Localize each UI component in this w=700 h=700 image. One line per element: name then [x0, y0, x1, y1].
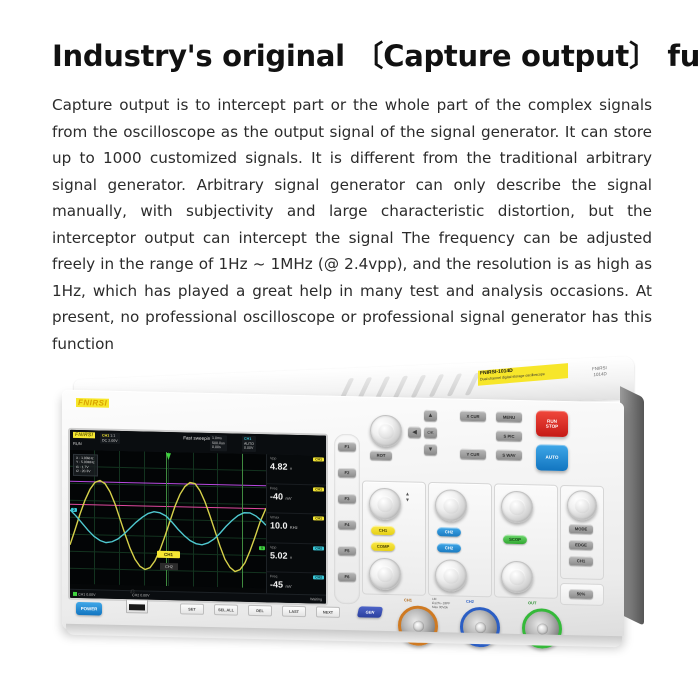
ch1-chip-l3: 2.00V	[108, 438, 117, 442]
delete-button[interactable]: DEL	[248, 605, 272, 617]
waveform-plot-area[interactable]: X : 1.00kHz Y : 5.00MHz t1 : 1.7V t2 : 2…	[70, 450, 266, 588]
scope-control-group: SCOP	[494, 483, 558, 598]
model-label: FNIRSI-1014D Dual channel digital storag…	[478, 363, 568, 386]
percent-button-group: 50%	[560, 583, 604, 606]
y-cursor-button[interactable]: Y CUR	[460, 449, 486, 460]
oscilloscope-display[interactable]: FNIRSI RUN CH1 1:1 DC 2.00V Fast sweepin…	[70, 430, 326, 604]
meas-unit: v	[290, 555, 292, 560]
meas-unit: mV	[286, 495, 292, 500]
run-stop-line2: STOP	[546, 424, 558, 430]
next-button[interactable]: NEXT	[316, 606, 340, 618]
last-button[interactable]: LAST	[282, 606, 306, 618]
brand-logo: FNIRSI	[76, 398, 109, 408]
measurement-row[interactable]: Vmax CH1 10.0 KHz	[267, 513, 327, 544]
device-front-panel: FNIRSI FNIRSI RUN CH1 1:1 DC 2.00V Fast …	[62, 390, 624, 643]
vent-slot	[375, 376, 391, 399]
ch1-position-knob[interactable]	[369, 488, 401, 521]
generator-button[interactable]: GEN	[357, 606, 383, 617]
scope-button[interactable]: SCOP	[503, 535, 527, 545]
trigger-chip[interactable]: CH1 AUTO 0.00V	[242, 436, 256, 452]
time-base-chip[interactable]: 1.0ms 500.0us 0.00s	[210, 435, 227, 451]
meas-channel-tag: CH2	[313, 546, 324, 550]
function-button-column: F1 F2 F3 F4 F5 F6	[334, 434, 360, 605]
meas-channel-tag: CH2	[313, 576, 324, 580]
trig-chip-l3: 0.00V	[244, 446, 253, 450]
bnc-ch2-label: CH2	[466, 599, 474, 604]
ch1-volts-knob[interactable]	[369, 558, 401, 591]
auto-button[interactable]: AUTO	[536, 444, 568, 471]
vent-slot	[411, 375, 427, 398]
function-button-f6[interactable]: F6	[338, 572, 356, 581]
page-body-text: Capture output is to intercept part or t…	[52, 92, 652, 357]
trig-chip-l2: AUTO	[244, 441, 254, 445]
x-cursor-button[interactable]: X CUR	[460, 411, 486, 422]
horizontal-position-knob[interactable]	[501, 561, 533, 594]
select-all-button[interactable]: SEL.ALL	[214, 604, 238, 616]
function-button-f4[interactable]: F4	[338, 520, 356, 529]
ch1-chip-l1: 1:1	[110, 434, 115, 438]
meas-value: 45	[273, 580, 283, 590]
usb-icon: ⎌	[130, 589, 135, 596]
vent-slot	[447, 373, 463, 396]
function-button-f2[interactable]: F2	[338, 468, 356, 477]
set-button[interactable]: SET	[180, 603, 204, 615]
ch1-arrows-icon: ▲▼	[405, 491, 410, 503]
ch1-trace	[70, 480, 266, 572]
ch1-button[interactable]: CH1	[371, 526, 395, 536]
trigger-mode-button[interactable]: MODE	[569, 524, 593, 534]
bnc-out-label: OUT	[528, 600, 536, 605]
page-root: Industry's original 〔Capture output〕 fun…	[0, 0, 700, 700]
comp-button[interactable]: COMP	[371, 542, 395, 552]
ch2-button[interactable]: CH2	[437, 527, 461, 537]
meas-channel-tag: CH1	[313, 457, 324, 461]
trig-chip-l1: CH1	[244, 437, 251, 441]
oscilloscope-device: FNIRSI-1014D Dual channel digital storag…	[52, 368, 652, 658]
corner-brand-model: 1014D	[592, 371, 607, 378]
rot-button[interactable]: ROT	[370, 451, 392, 460]
status-state: Waiting	[310, 597, 322, 601]
timebase-knob[interactable]	[501, 491, 533, 524]
status-ch1: CH1 0.00V	[78, 592, 96, 596]
ch2-ground-marker[interactable]: 2	[71, 508, 77, 512]
ch1-ground-marker[interactable]: 1	[259, 546, 265, 550]
function-button-f5[interactable]: F5	[338, 546, 356, 555]
meas-unit: v	[290, 466, 292, 471]
menu-button[interactable]: MENU	[496, 411, 522, 422]
ch2-volts-knob[interactable]	[435, 559, 467, 592]
nav-left-icon[interactable]: ◀	[408, 426, 421, 437]
ch1-selection-label[interactable]: CH1	[157, 551, 180, 559]
nav-ok-button[interactable]: OK	[424, 427, 437, 438]
save-wave-button[interactable]: S WAV	[496, 449, 522, 460]
meas-value: 10.0	[270, 521, 288, 531]
meas-unit: KHz	[290, 525, 298, 530]
page-title: Industry's original 〔Capture output〕 fun…	[52, 33, 652, 75]
ch2-position-knob[interactable]	[435, 489, 467, 522]
fifty-percent-button[interactable]: 50%	[569, 589, 593, 599]
time-chip-l3: 0.00s	[212, 445, 221, 449]
ch2-selection-label[interactable]: CH2	[160, 563, 178, 570]
ch2-menu-button[interactable]: CH2	[437, 543, 461, 553]
ch1-control-group: ▲▼ CH1 COMP	[362, 480, 426, 595]
function-button-f3[interactable]: F3	[338, 494, 356, 503]
ch1-chip-tag: CH1	[102, 434, 109, 438]
measurement-row[interactable]: Vpp CH1 4.82 v	[267, 454, 327, 485]
usb-port[interactable]	[126, 599, 148, 613]
bnc-ch1-label: CH1	[404, 597, 412, 602]
run-state-text: RUN	[73, 441, 82, 446]
meas-unit: mV	[286, 584, 292, 589]
corner-brand: FNIRSI 1014D	[592, 365, 607, 378]
vent-slot	[393, 376, 409, 399]
info-line-3: t2 : 20.3V	[76, 469, 95, 474]
function-button-f1[interactable]: F1	[338, 442, 356, 451]
display-bezel: FNIRSI RUN CH1 1:1 DC 2.00V Fast sweepin…	[68, 428, 328, 606]
trigger-edge-button[interactable]: EDGE	[569, 540, 593, 550]
bnc-impedance-note: 1M Ω±2%~18PFMax 30Vpk	[432, 597, 450, 609]
measurement-row[interactable]: Freq CH1 -40 mV	[267, 484, 327, 515]
nav-down-icon[interactable]: ▼	[424, 444, 437, 455]
trigger-level-knob[interactable]	[567, 490, 597, 521]
meas-value: 40	[273, 491, 283, 501]
ch2-control-group: CH2 CH2	[428, 482, 492, 597]
display-mode-title: Fast sweeping	[183, 435, 213, 441]
vent-slot	[429, 374, 445, 397]
trigger-source-button[interactable]: CH1	[569, 556, 593, 566]
meas-value: 4.82	[270, 461, 288, 471]
run-stop-button[interactable]: RUN STOP	[536, 410, 568, 437]
universal-knob[interactable]	[370, 415, 402, 448]
measurement-row[interactable]: Vpp CH2 5.02 v	[267, 543, 327, 574]
save-picture-button[interactable]: S PIC	[496, 430, 522, 441]
ch1-settings-chip[interactable]: CH1 1:1 DC 2.00V	[100, 432, 120, 444]
power-button[interactable]: POWER	[76, 602, 102, 616]
meas-channel-tag: CH1	[313, 487, 324, 491]
meas-channel-tag: CH1	[313, 517, 324, 521]
cursor-info-box: X : 1.00kHz Y : 5.00MHz t1 : 1.7V t2 : 2…	[73, 454, 98, 476]
display-logo: FNIRSI	[73, 432, 95, 439]
meas-value: 5.02	[270, 550, 288, 560]
measurement-panel: Vpp CH1 4.82 v Freq CH1 -40 mV V	[266, 454, 327, 603]
status-indicator	[73, 591, 77, 595]
time-chip-l1: 1.0ms	[212, 436, 222, 440]
ch1-chip-l2: DC	[102, 438, 107, 442]
nav-up-icon[interactable]: ▲	[424, 410, 437, 421]
trigger-control-group: MODE EDGE CH1	[560, 485, 604, 580]
